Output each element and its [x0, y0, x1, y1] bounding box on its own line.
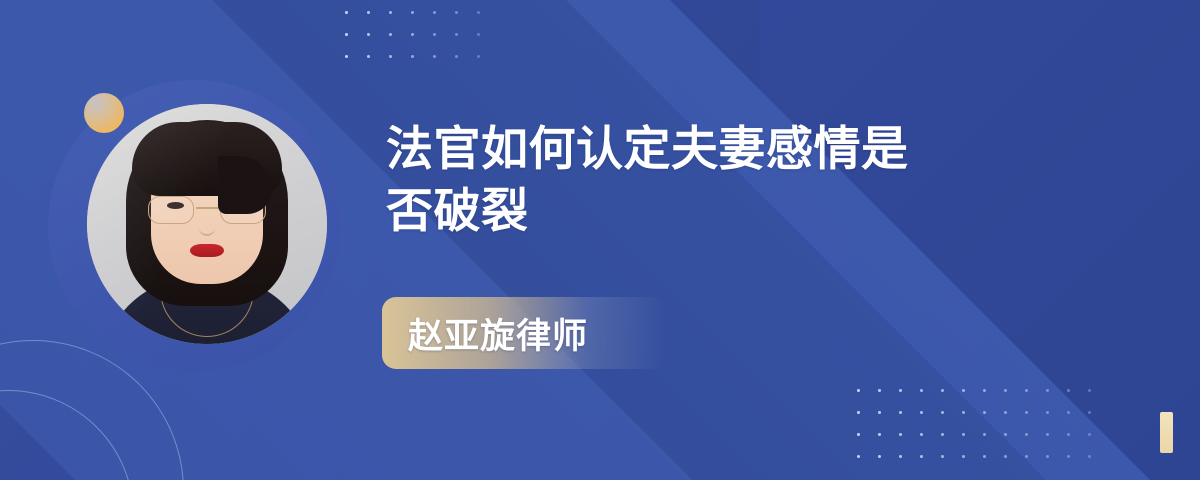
portrait-lips	[190, 244, 224, 257]
portrait-lens-left	[148, 196, 194, 224]
portrait-glasses-bridge	[196, 207, 218, 209]
headline-block: 法官如何认定夫妻感情是 否破裂	[386, 118, 1086, 242]
portrait-hair-fringe	[132, 122, 282, 196]
page-title: 法官如何认定夫妻感情是 否破裂	[386, 118, 1086, 242]
gold-accent-bar	[1160, 412, 1173, 453]
lawyer-name-badge: 赵亚旋律师	[382, 297, 666, 369]
lawyer-promo-banner: 法官如何认定夫妻感情是 否破裂 赵亚旋律师	[0, 0, 1200, 480]
page-title-line-1: 法官如何认定夫妻感情是	[386, 118, 1086, 180]
lawyer-name-label: 赵亚旋律师	[408, 308, 588, 359]
avatar-photo	[87, 104, 327, 344]
avatar	[48, 74, 344, 374]
page-title-line-2: 否破裂	[386, 180, 1086, 242]
